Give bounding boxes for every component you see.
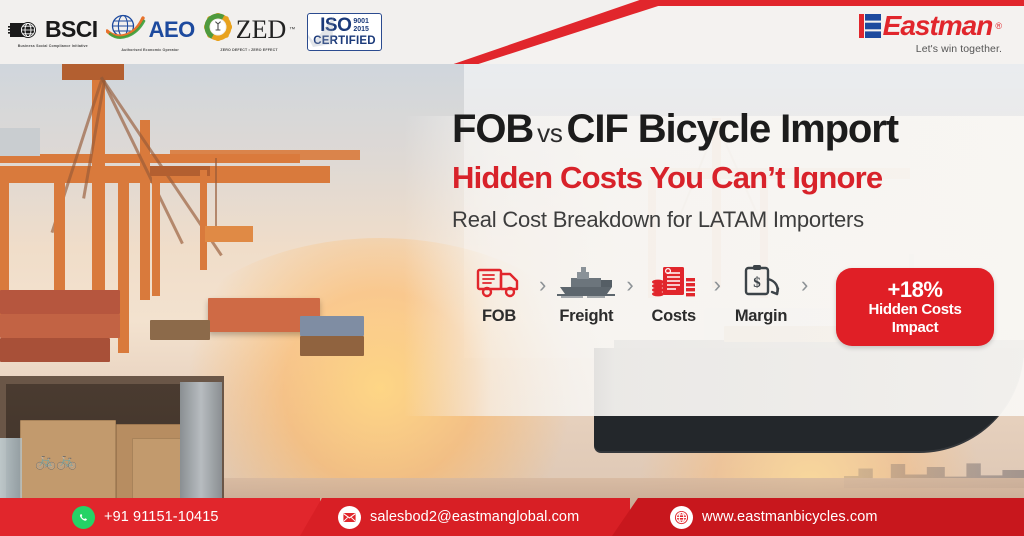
contact-phone[interactable]: +91 91151-10415 [72,506,219,529]
cert-zed-subtitle: ZERO DEFECT • ZERO EFFECT [220,48,277,52]
cert-iso-year: 2015 [353,26,369,33]
svg-text:$: $ [753,275,761,291]
globe-icon [670,506,693,529]
cert-zed-trademark: ™ [289,27,295,33]
step-costs: Costs [635,262,713,326]
bsci-globe-hand-icon [8,17,42,43]
whatsapp-icon [72,506,95,529]
hero-copy: FOBvsCIF Bicycle Import Hidden Costs You… [452,108,1004,233]
page-title: FOBvsCIF Bicycle Import [452,108,1004,151]
brand-logo[interactable]: Eastman ® Let's win together. [859,12,1002,55]
brand-tagline: Let's win together. [916,43,1002,55]
step-costs-label: Costs [651,307,695,326]
cert-iso: ISO 9001 2015 CERTIFIED [307,6,382,58]
cargo-ship-icon [557,262,615,302]
brand-registered-mark: ® [995,21,1002,31]
cert-aeo-name: AEO [149,19,195,41]
status-badge: +18% Hidden Costs Impact [836,268,994,346]
title-vs: vs [533,118,566,148]
marketing-banner: 🚲🚲 🍸 ⚲ 🚶 [0,0,1024,536]
title-part-1: FOB [452,107,533,151]
certification-logos: BSCI Business Social Compliance Initiati… [8,4,382,60]
email-icon [338,506,361,529]
header-bar: BSCI Business Social Compliance Initiati… [0,0,1024,64]
truck-icon [476,262,522,302]
contact-email[interactable]: salesbod2@eastmanglobal.com [338,506,579,529]
brand-name: Eastman [883,12,993,40]
chevron-right-icon-4: › [801,274,808,296]
aeo-globe-icon [106,12,146,47]
contact-phone-segment: +91 91151-10415 [0,498,320,536]
title-part-2: CIF Bicycle Import [567,107,898,151]
clipboard-dollar-icon: $ [738,262,784,302]
badge-percent: +18% [888,278,943,301]
contact-website-text: www.eastmanbicycles.com [702,509,878,525]
cert-bsci-subtitle: Business Social Compliance Initiative [18,44,88,48]
contact-bar: +91 91151-10415 salesbod2@eastmanglobal.… [0,498,1024,536]
eastman-e-mark-icon [859,14,881,38]
cert-aeo-subtitle: Authorised Economic Operator [121,48,179,52]
hero-subtitle: Hidden Costs You Can’t Ignore [452,160,1004,196]
process-steps: FOB › Freight › [460,262,809,326]
invoice-coins-icon [650,262,698,302]
contact-website[interactable]: www.eastmanbicycles.com [670,506,878,529]
chevron-right-icon-3: › [714,274,721,296]
zed-gear-icon [203,12,233,47]
contact-phone-text: +91 91151-10415 [104,509,219,525]
chevron-right-icon-1: › [539,274,546,296]
iso-check-icon [307,16,336,51]
cert-aeo: AEO Authorised Economic Operator [106,6,195,58]
contact-website-segment: www.eastmanbicycles.com [612,498,1024,536]
cert-iso-number: 9001 [353,18,369,25]
cert-zed-name: ZED [236,17,287,43]
contact-email-text: salesbod2@eastmanglobal.com [370,509,579,525]
cert-zed: ZED ™ ZERO DEFECT • ZERO EFFECT [203,6,296,58]
cert-bsci-name: BSCI [45,18,98,41]
badge-line-1: Hidden Costs [868,301,961,318]
badge-line-2: Impact [892,319,939,336]
step-fob: FOB [460,262,538,326]
step-margin: $ Margin [722,262,800,326]
step-margin-label: Margin [735,307,787,326]
step-freight: Freight [547,262,625,326]
chevron-right-icon-2: › [626,274,633,296]
contact-email-segment: salesbod2@eastmanglobal.com [300,498,630,536]
step-fob-label: FOB [482,307,516,326]
step-freight-label: Freight [559,307,613,326]
cert-bsci: BSCI Business Social Compliance Initiati… [8,6,98,58]
hero-tagline: Real Cost Breakdown for LATAM Importers [452,207,1004,233]
